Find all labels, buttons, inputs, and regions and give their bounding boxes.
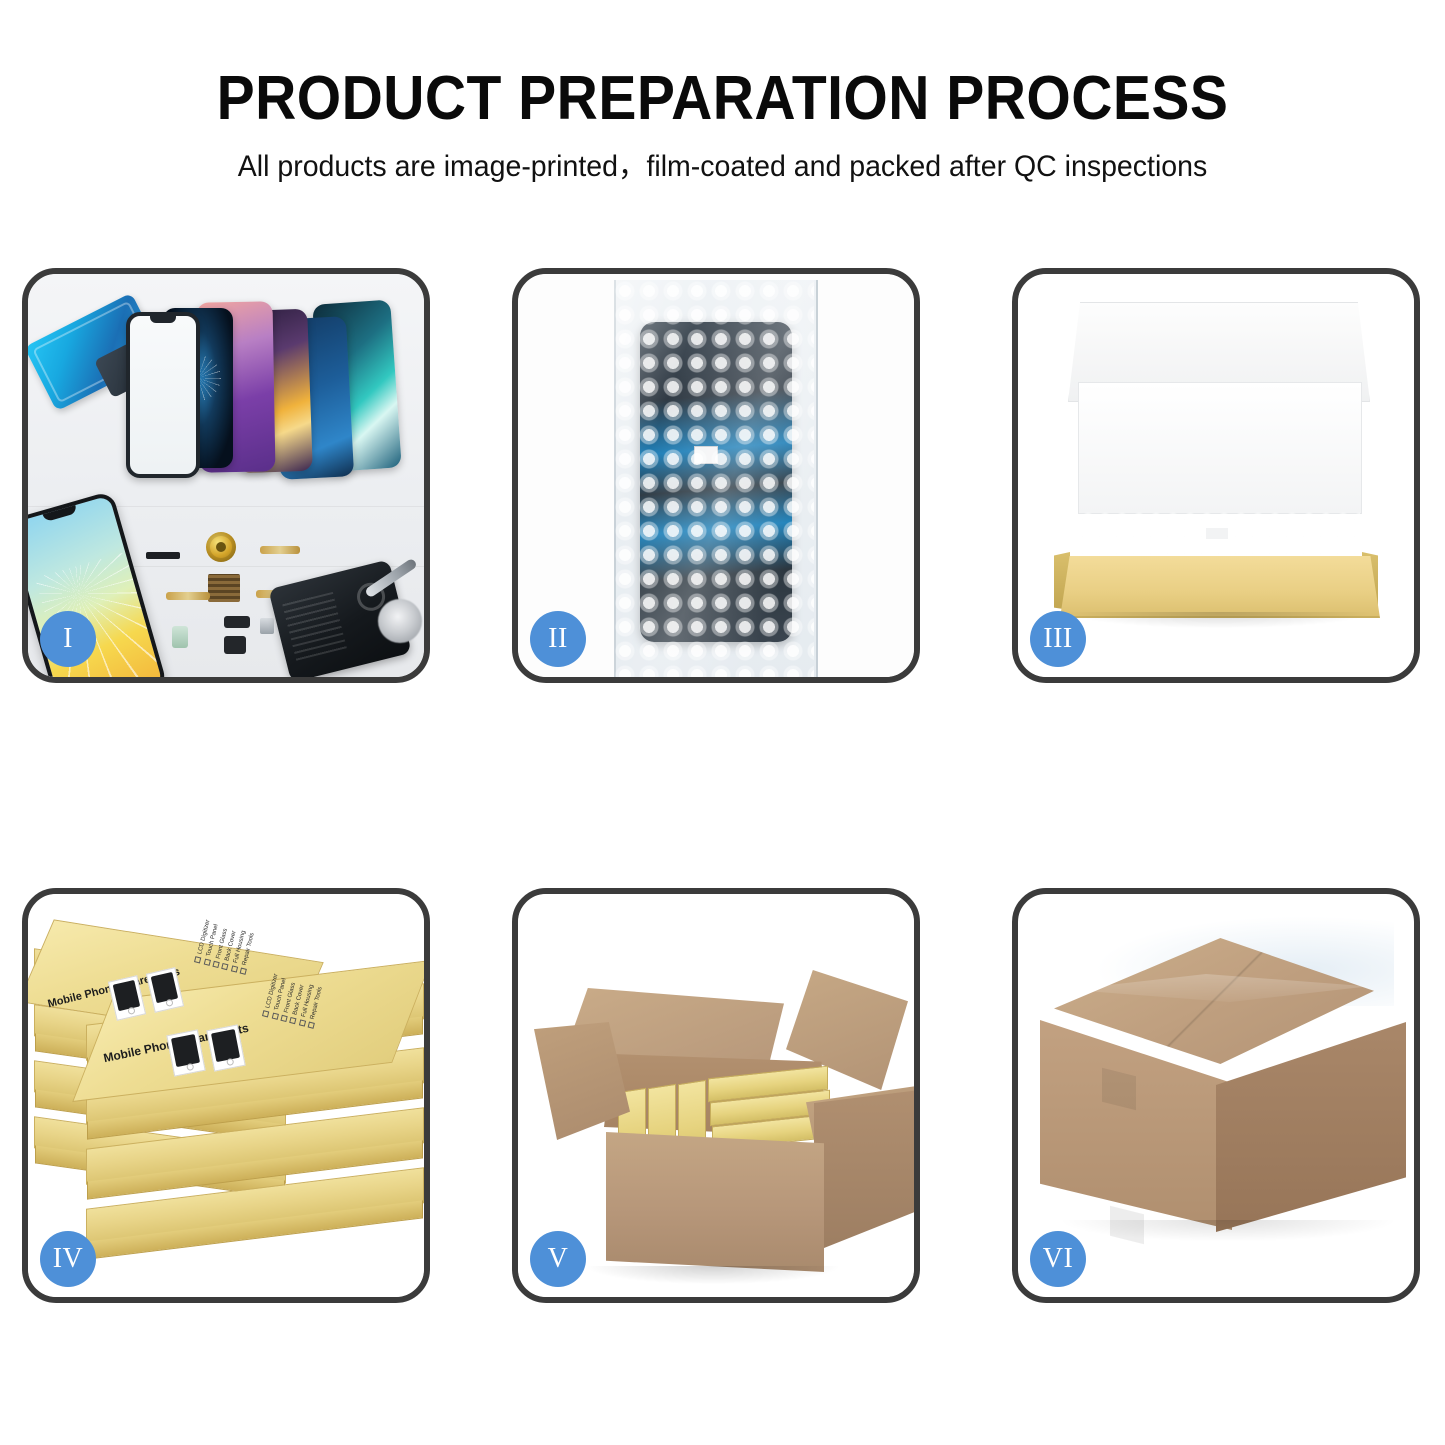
- product-sticker: [1206, 528, 1228, 539]
- logic-chip-part: [208, 574, 240, 602]
- process-step-panel-3: III: [1012, 268, 1420, 683]
- plastic-sheen: [614, 280, 814, 677]
- earpiece-mesh-part: [146, 552, 180, 559]
- step-badge-1: I: [40, 611, 96, 667]
- flex-cable-part: [260, 546, 300, 554]
- process-step-grid: I II III: [22, 268, 1423, 1308]
- page-subtitle: All products are image-printed，film-coat…: [36, 130, 1409, 182]
- panel-3-image: III: [1018, 274, 1414, 677]
- process-step-panel-6: VI: [1012, 888, 1420, 1303]
- process-step-panel-4: Mobile Phone Spare Parts Mobile Phone Sp…: [22, 888, 430, 1303]
- drop-shadow: [588, 1266, 838, 1284]
- page-title: PRODUCT PREPARATION PROCESS: [58, 0, 1387, 130]
- panel-4-image: Mobile Phone Spare Parts Mobile Phone Sp…: [28, 894, 424, 1297]
- wireless-charging-coil-part: [206, 532, 236, 562]
- retail-box-stack: Mobile Phone Spare Parts Mobile Phone Sp…: [34, 930, 424, 1282]
- step-badge-2: II: [530, 611, 586, 667]
- step-badge-3: III: [1030, 611, 1086, 667]
- process-step-panel-2: II: [512, 268, 920, 683]
- carton-right-face: [1216, 1022, 1406, 1232]
- page-header: PRODUCT PREPARATION PROCESS All products…: [0, 0, 1445, 250]
- process-step-panel-1: I: [22, 268, 430, 683]
- drop-shadow: [1070, 612, 1370, 628]
- step-badge-6: VI: [1030, 1231, 1086, 1287]
- drop-shadow: [1058, 1220, 1398, 1242]
- front-glass-panel: [126, 312, 200, 478]
- process-step-panel-5: V: [512, 888, 920, 1303]
- connector-part: [224, 616, 250, 628]
- step-badge-5: V: [530, 1231, 586, 1287]
- panel-5-image: V: [518, 894, 914, 1297]
- sim-tray-part: [172, 626, 188, 648]
- cleaning-brush-icon: [378, 599, 422, 643]
- vibration-motor-part: [260, 618, 274, 634]
- camera-module-part: [224, 636, 246, 654]
- panel-2-image: II: [518, 274, 914, 677]
- flex-cable-part: [166, 592, 210, 600]
- foam-liner-sheet: [1078, 382, 1362, 514]
- box-tray-front-wall: [1060, 556, 1380, 618]
- step-badge-4: IV: [40, 1231, 96, 1287]
- panel-1-image: I: [28, 274, 424, 677]
- carton-side-front: [606, 1132, 824, 1272]
- panel-6-image: VI: [1018, 894, 1414, 1297]
